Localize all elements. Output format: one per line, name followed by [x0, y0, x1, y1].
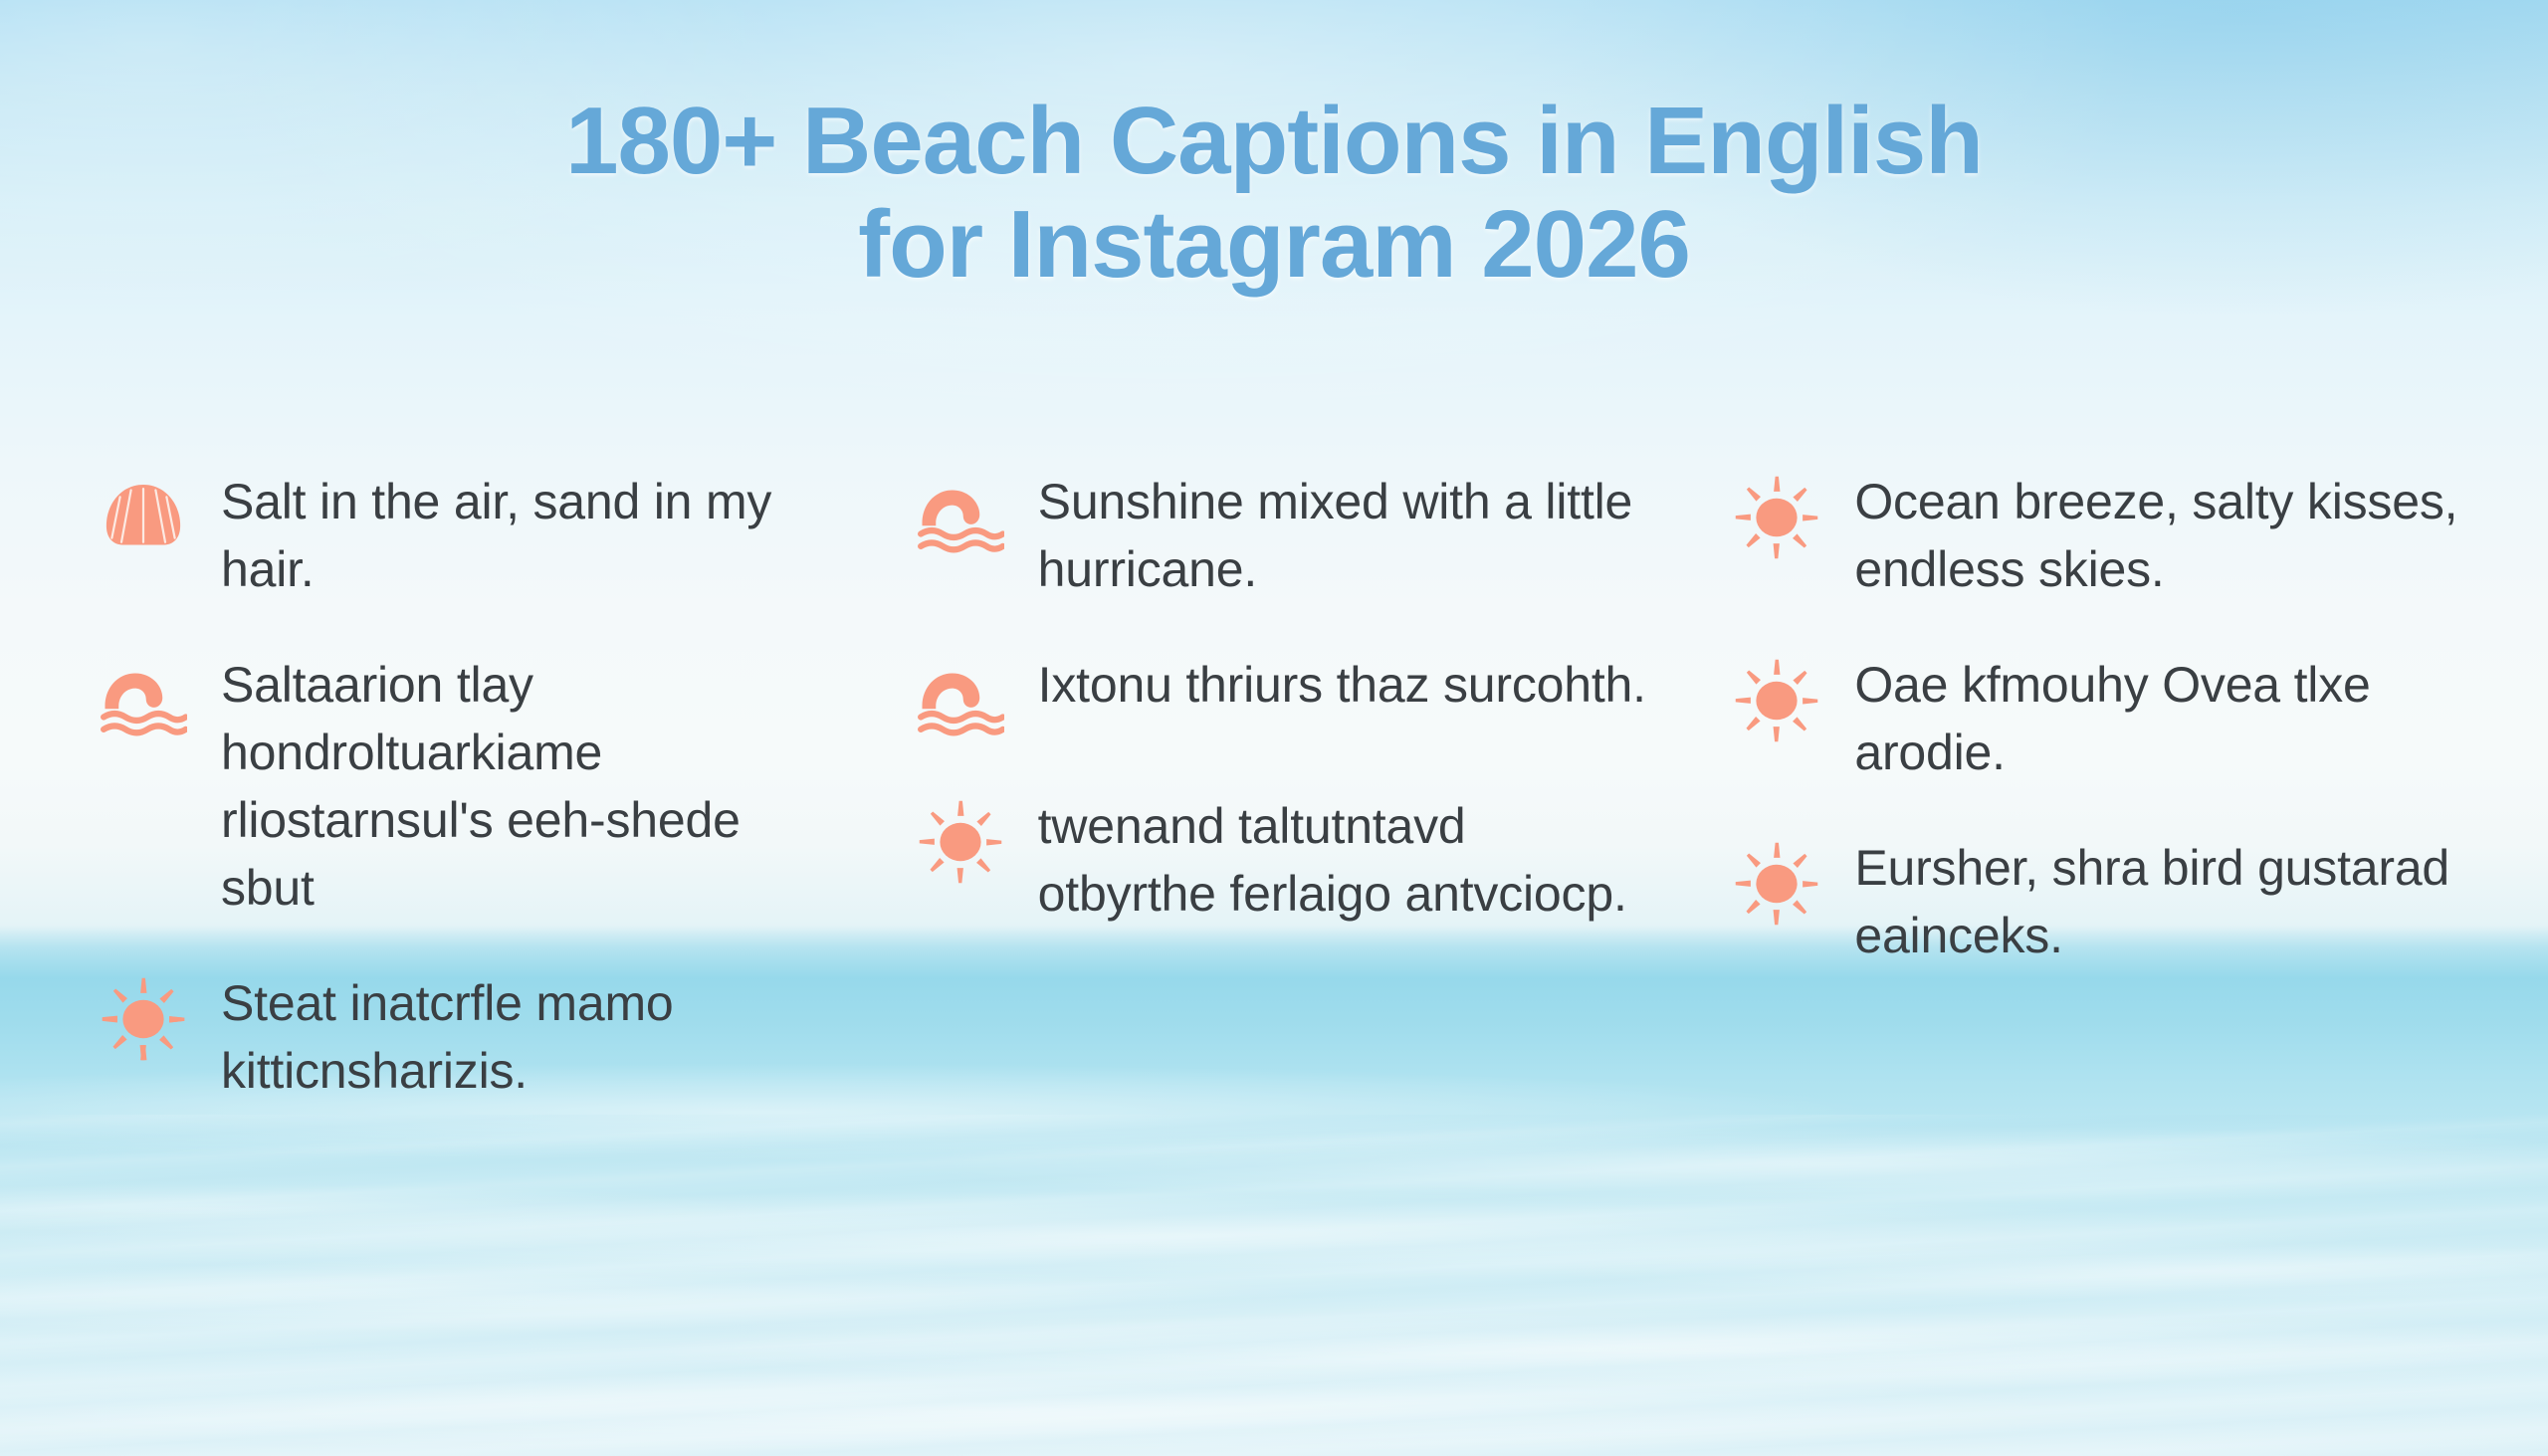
caption-item: Sunshine mixed with a little hurricane.: [917, 468, 1672, 603]
caption-text: Ocean breeze, salty kisses, endless skie…: [1854, 468, 2471, 603]
ocean-wave-icon: [917, 657, 1004, 744]
seashell-icon: [100, 474, 187, 561]
sun-icon: [1733, 840, 1820, 928]
sun-icon: [100, 975, 187, 1063]
caption-column-1: Salt in the air, sand in my hair. Saltaa…: [100, 468, 855, 1152]
caption-item: Steat inatcrfle mamo kitticnsharizis.: [100, 969, 855, 1105]
caption-item: Saltaarion tlay hondroltuarkiame rliosta…: [100, 651, 855, 922]
poster-title: 180+ Beach Captions in English for Insta…: [0, 90, 2548, 296]
sun-icon: [917, 798, 1004, 886]
caption-text: Oae kfmouhy Ovea tlxe arodie.: [1854, 651, 2471, 786]
caption-columns: Salt in the air, sand in my hair. Saltaa…: [100, 468, 2488, 1152]
caption-text: Sunshine mixed with a little hurricane.: [1038, 468, 1655, 603]
sun-icon: [1733, 474, 1820, 561]
ocean-wave-icon: [100, 657, 187, 744]
caption-text: Saltaarion tlay hondroltuarkiame rliosta…: [221, 651, 838, 922]
caption-text: Salt in the air, sand in my hair.: [221, 468, 838, 603]
sun-icon: [1733, 657, 1820, 744]
caption-text: Steat inatcrfle mamo kitticnsharizis.: [221, 969, 838, 1105]
caption-item: Ocean breeze, salty kisses, endless skie…: [1733, 468, 2488, 603]
caption-text: Eursher, shra bird gustarad eainceks.: [1854, 834, 2471, 969]
caption-item: Ixtonu thriurs thaz surcohth.: [917, 651, 1672, 744]
title-line-2: for Instagram 2026: [0, 193, 2548, 297]
caption-item: twenand taltutntavd otbyrthe ferlaigo an…: [917, 792, 1672, 928]
caption-column-3: Ocean breeze, salty kisses, endless skie…: [1733, 468, 2488, 1017]
caption-item: Eursher, shra bird gustarad eainceks.: [1733, 834, 2488, 969]
caption-text: Ixtonu thriurs thaz surcohth.: [1038, 651, 1646, 719]
title-line-1: 180+ Beach Captions in English: [0, 90, 2548, 193]
caption-item: Oae kfmouhy Ovea tlxe arodie.: [1733, 651, 2488, 786]
caption-column-2: Sunshine mixed with a little hurricane. …: [917, 468, 1672, 975]
caption-item: Salt in the air, sand in my hair.: [100, 468, 855, 603]
beach-captions-poster: 180+ Beach Captions in English for Insta…: [0, 0, 2548, 1456]
caption-text: twenand taltutntavd otbyrthe ferlaigo an…: [1038, 792, 1655, 928]
sea-ripples-overlay: [0, 1115, 2548, 1456]
ocean-wave-icon: [917, 474, 1004, 561]
